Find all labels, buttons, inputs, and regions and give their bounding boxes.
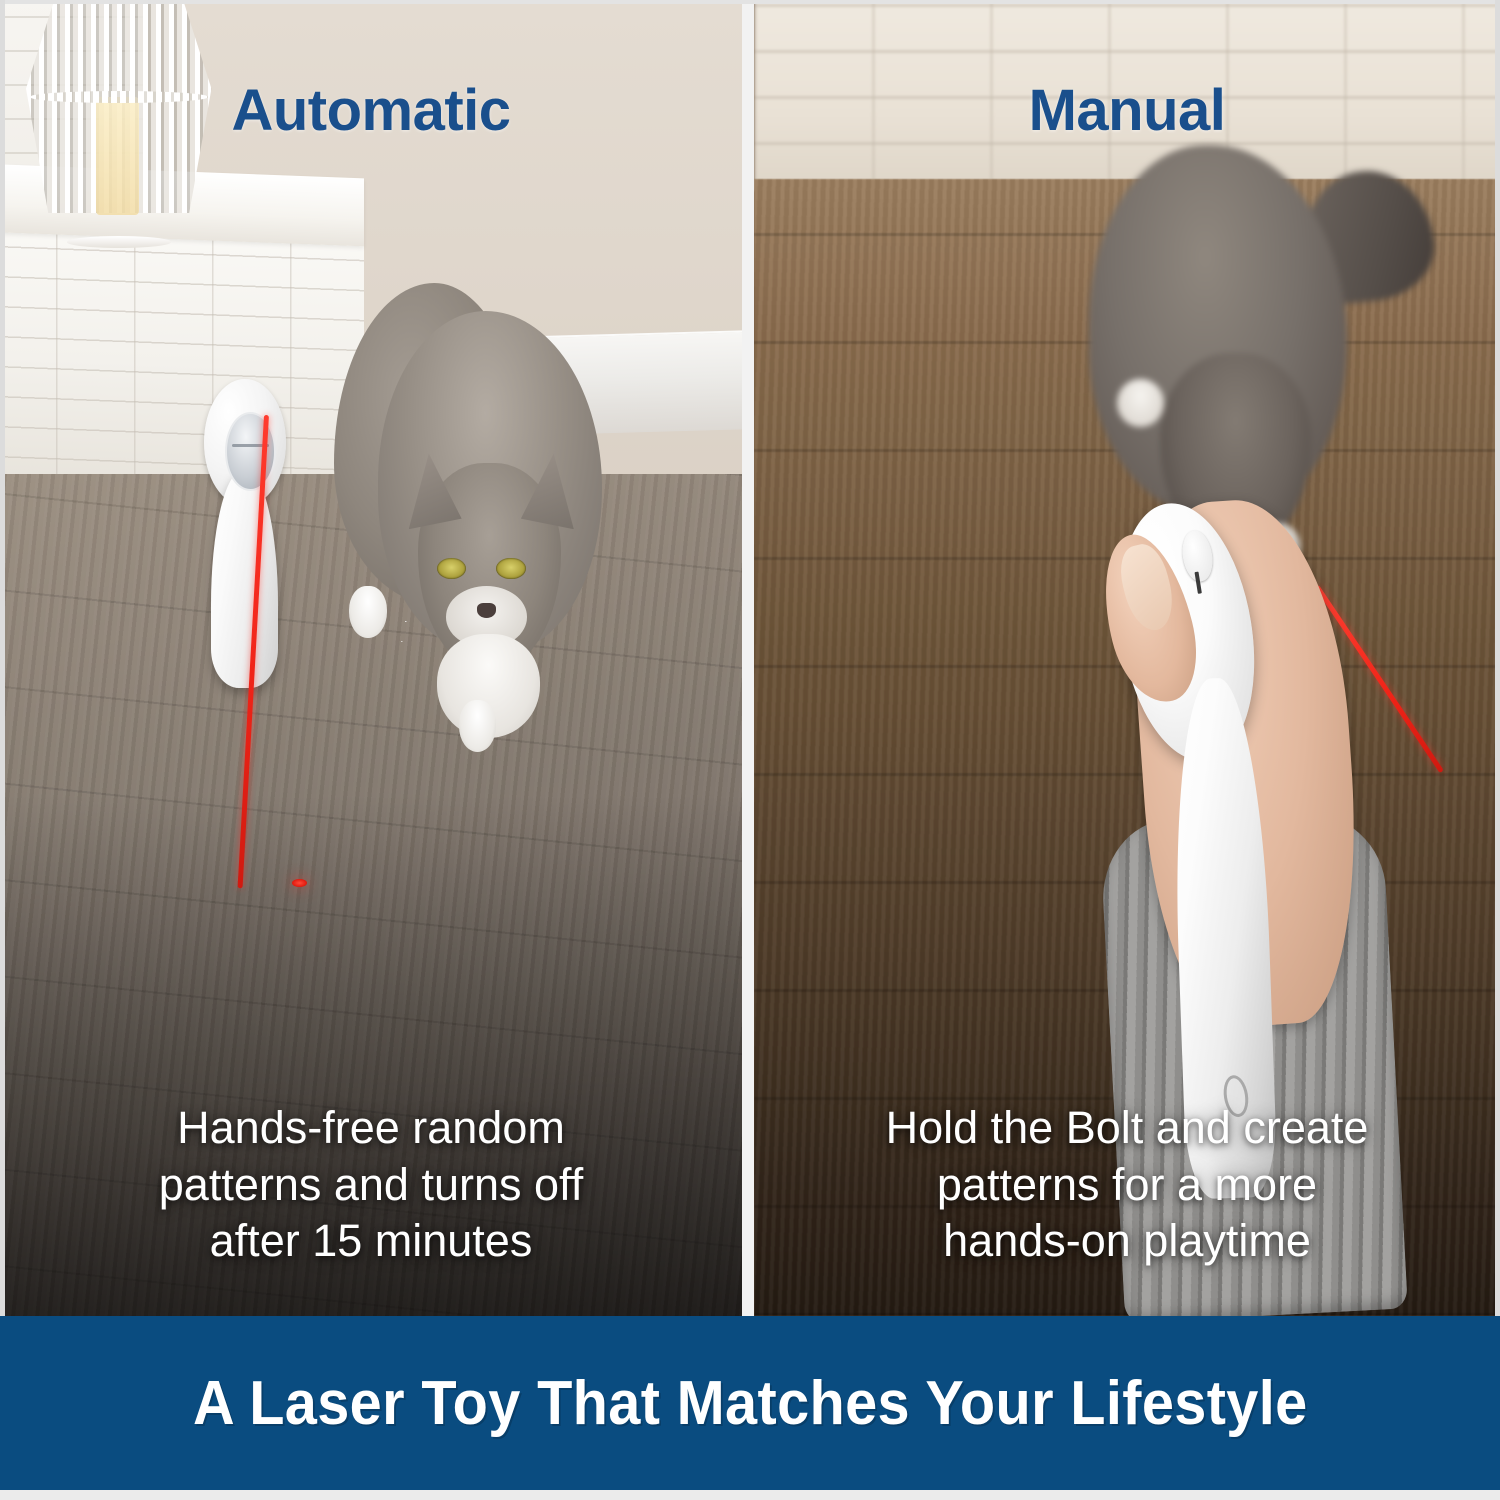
caption-line: patterns for a more [784, 1157, 1470, 1214]
lantern-base [67, 236, 171, 248]
caption-line: hands-on playtime [784, 1213, 1470, 1270]
laser-toy-upright-icon [204, 379, 286, 682]
footer-strip [0, 1490, 1500, 1500]
bottom-banner: A Laser Toy That Matches Your Lifestyle [0, 1316, 1500, 1490]
product-comparison-poster: Automatic Hands-free random patterns and… [0, 0, 1500, 1500]
caption-line: Hands-free random [30, 1100, 713, 1157]
panel-divider [742, 0, 754, 1316]
gray-tabby-cat-crouching-icon [334, 283, 646, 757]
cat-paw [349, 586, 386, 638]
panel-caption-manual: Hold the Bolt and create patterns for a … [784, 1100, 1470, 1270]
panel-caption-automatic: Hands-free random patterns and turns off… [30, 1100, 713, 1270]
cat-eye-right [496, 558, 526, 580]
caption-line: patterns and turns off [30, 1157, 713, 1214]
panel-automatic: Automatic Hands-free random patterns and… [0, 0, 742, 1316]
device-body [211, 470, 278, 688]
panel-container: Automatic Hands-free random patterns and… [0, 0, 1500, 1316]
image-top-edge [0, 0, 1500, 4]
panel-heading-automatic: Automatic [0, 82, 742, 140]
image-left-edge [0, 0, 5, 1316]
caption-line: Hold the Bolt and create [784, 1100, 1470, 1157]
panel-manual: Manual Hold the Bolt and create patterns… [754, 0, 1500, 1316]
caption-line: after 15 minutes [30, 1213, 713, 1270]
image-right-edge [1495, 0, 1500, 1316]
cat-nose [477, 603, 496, 618]
cat-front-paw [459, 700, 496, 752]
panel-heading-manual: Manual [754, 82, 1500, 140]
cat-paw [1117, 379, 1164, 427]
banner-tagline: A Laser Toy That Matches Your Lifestyle [193, 1368, 1308, 1439]
